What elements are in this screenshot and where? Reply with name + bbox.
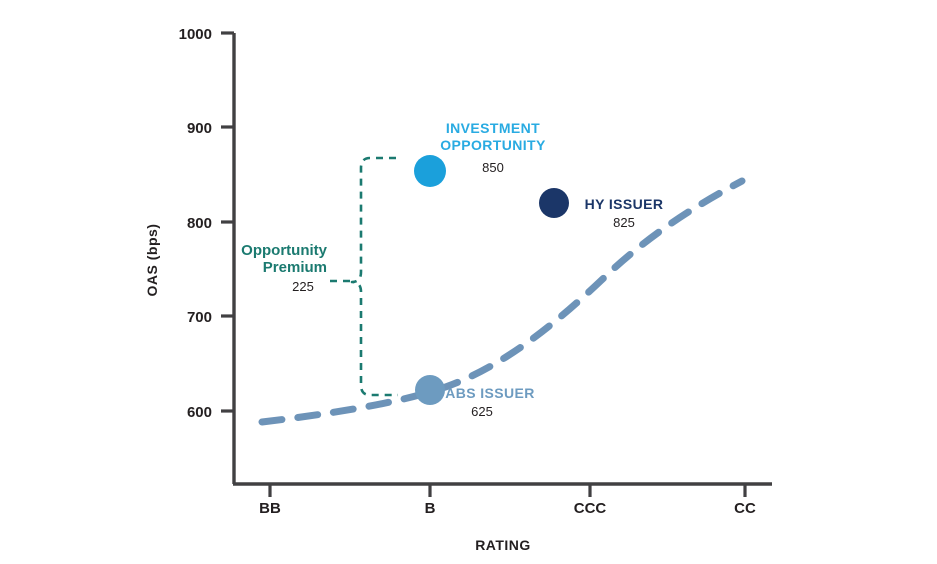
oas-rating-scatter-chart: 1000 900 800 700 600 OAS (bps) BB B CCC … <box>0 0 937 564</box>
x-axis-title: RATING <box>475 537 531 553</box>
x-tick-label-bb: BB <box>259 500 281 517</box>
x-tick-label-ccc: CCC <box>574 500 607 517</box>
hy-issuer-marker[interactable] <box>539 188 569 218</box>
chart-background <box>0 0 937 564</box>
y-axis-title: OAS (bps) <box>144 224 160 297</box>
investment-opportunity-value: 850 <box>482 160 504 175</box>
abs-issuer-value: 625 <box>471 404 493 419</box>
y-tick-label-800: 800 <box>187 215 212 232</box>
investment-opportunity-label-line1: INVESTMENT <box>446 120 540 136</box>
x-tick-label-cc: CC <box>734 500 756 517</box>
y-tick-label-900: 900 <box>187 120 212 137</box>
opportunity-premium-value: 225 <box>292 279 314 294</box>
abs-issuer-label: ABS ISSUER <box>445 385 535 401</box>
y-tick-label-600: 600 <box>187 404 212 421</box>
x-tick-label-b: B <box>425 500 436 517</box>
investment-opportunity-label-line2: OPPORTUNITY <box>440 137 546 153</box>
hy-issuer-label: HY ISSUER <box>585 196 664 212</box>
opportunity-premium-label-line2: Premium <box>263 259 327 276</box>
y-tick-label-1000: 1000 <box>179 26 212 43</box>
chart-container: 1000 900 800 700 600 OAS (bps) BB B CCC … <box>0 0 937 564</box>
abs-issuer-marker[interactable] <box>415 375 445 405</box>
hy-issuer-value: 825 <box>613 215 635 230</box>
y-tick-label-700: 700 <box>187 309 212 326</box>
investment-opportunity-marker[interactable] <box>414 155 446 187</box>
opportunity-premium-label-line1: Opportunity <box>241 242 327 259</box>
